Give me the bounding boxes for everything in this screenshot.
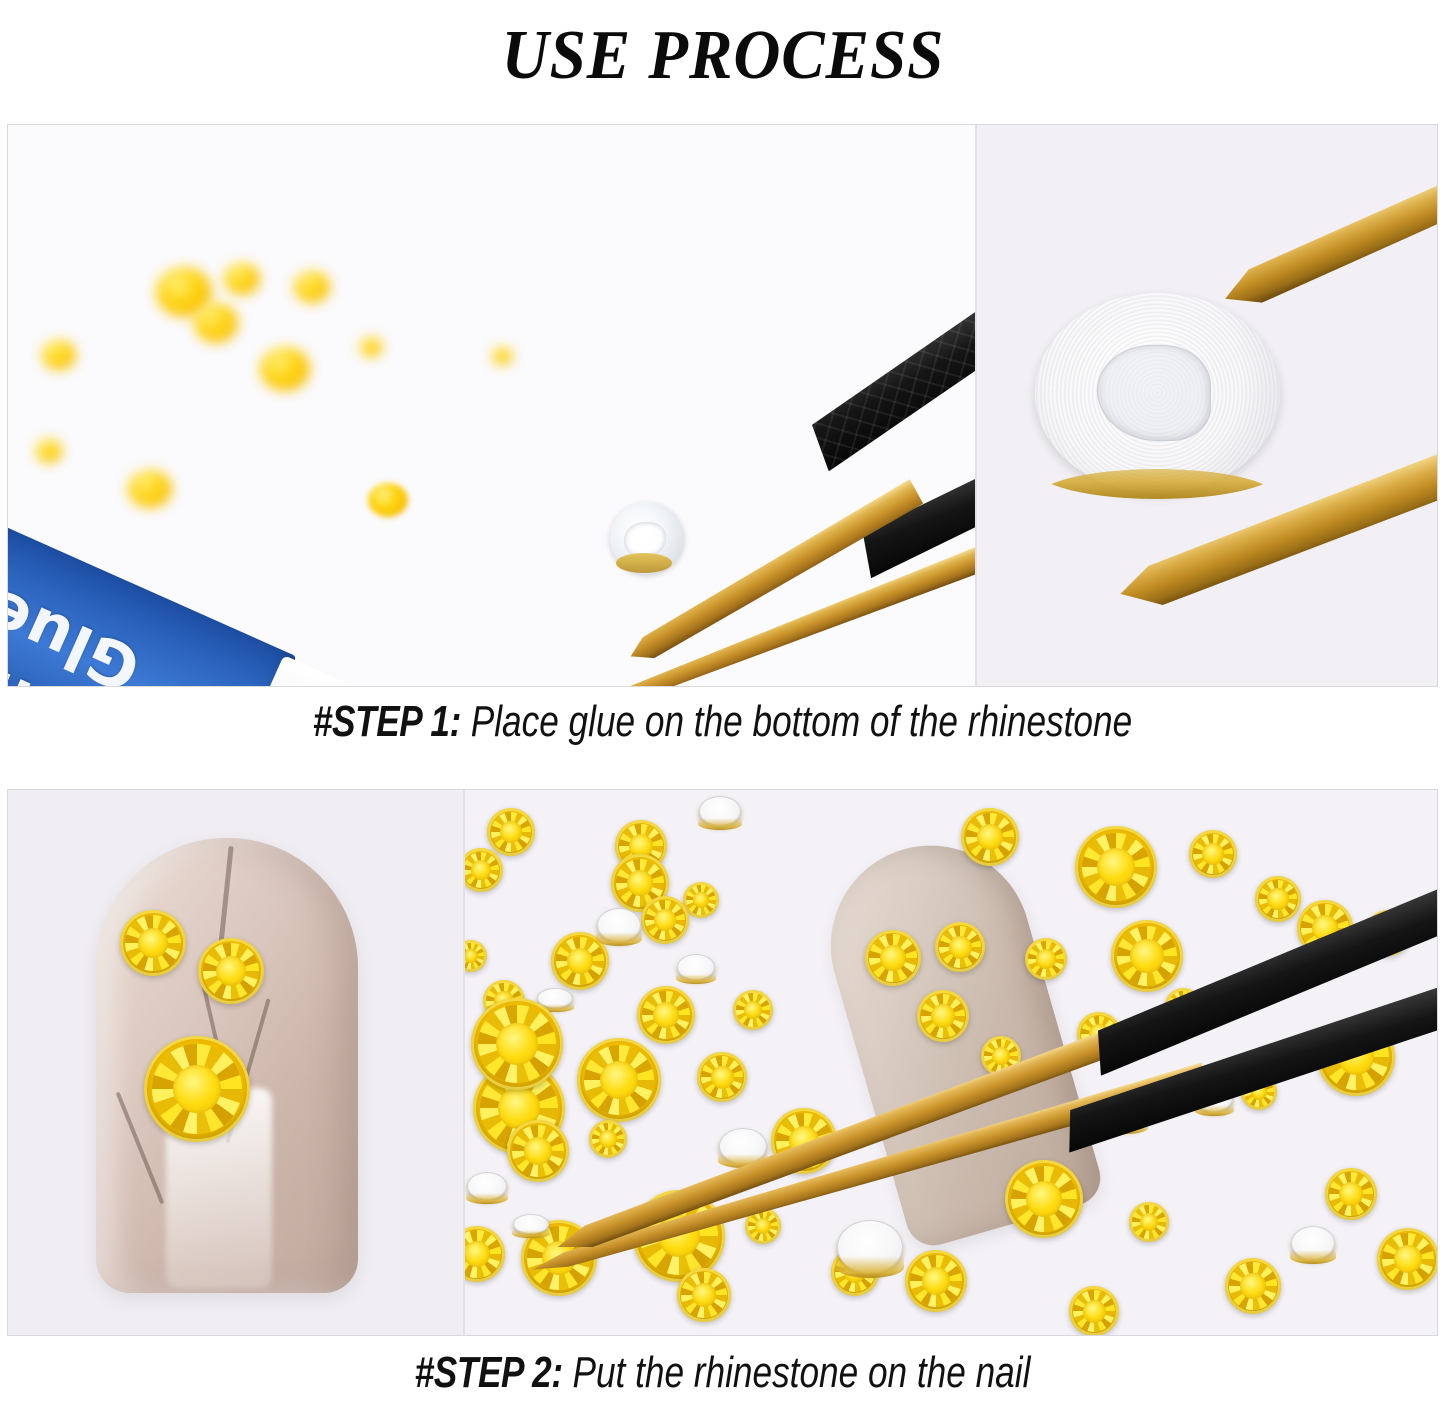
blurred-rhinestone <box>368 483 408 517</box>
blurred-rhinestone <box>194 303 238 343</box>
panel-4-alt-text: Gold tweezers placing a yellow rhineston… <box>465 790 466 791</box>
scattered-rhinestone <box>1255 876 1301 922</box>
nail-rhinestone-small-right <box>198 938 264 1004</box>
scattered-rhinestone-flat-back <box>677 954 715 980</box>
rhinestone-on-nail <box>865 930 921 986</box>
blurred-rhinestone <box>128 470 172 508</box>
panel-2-alt-text: Macro close-up of a rhinestone flat back… <box>977 125 978 126</box>
scattered-rhinestone <box>683 882 719 918</box>
rhinestone-backside-macro-photo: Macro close-up of a rhinestone flat back… <box>975 125 1437 686</box>
macro-tweezer-upper-arm <box>1214 149 1437 315</box>
scattered-rhinestone <box>1325 1168 1377 1220</box>
scattered-rhinestone <box>905 1250 967 1312</box>
scattered-rhinestone-flat-back <box>597 908 641 942</box>
tweezer-upper-grip <box>793 280 975 472</box>
page-title: USE PROCESS <box>501 16 944 96</box>
blurred-rhinestone <box>360 337 382 357</box>
rhinestone-glue-bottle: Glue Rhin <box>8 495 574 686</box>
scattered-rhinestone <box>1111 920 1183 992</box>
panel-1-alt-text: Hand holding blue Rhinestone Glue bottle… <box>8 125 9 126</box>
step-1-image-row: Glue Rhin Hand holding blue Rhinestone G… <box>7 124 1438 687</box>
scattered-rhinestone <box>637 986 695 1044</box>
scattered-rhinestone <box>1189 830 1237 878</box>
scattered-rhinestone <box>1069 1286 1119 1335</box>
scattered-rhinestone <box>463 1226 505 1282</box>
step-2-caption: #STEP 2: Put the rhinestone on the nail <box>145 1348 1301 1398</box>
scattered-rhinestone-flat-back <box>467 1172 507 1200</box>
applying-rhinestone-photo: Gold tweezers placing a yellow rhineston… <box>463 790 1437 1335</box>
glue-application-photo: Glue Rhin Hand holding blue Rhinestone G… <box>8 125 975 686</box>
scattered-rhinestone <box>1025 938 1067 980</box>
scattered-rhinestone <box>487 808 535 856</box>
blurred-rhinestone <box>492 347 512 365</box>
glue-bottle-label: Glue Rhin <box>8 522 296 686</box>
page-header: USE PROCESS <box>0 0 1445 112</box>
blurred-rhinestone <box>42 340 76 370</box>
blurred-rhinestone <box>260 347 310 391</box>
scattered-rhinestone <box>1225 1258 1281 1314</box>
blurred-rhinestone <box>36 439 62 463</box>
scattered-rhinestone <box>1377 1228 1437 1290</box>
rhinestone-on-nail <box>935 922 985 972</box>
scattered-rhinestone <box>507 1120 569 1182</box>
scattered-rhinestone-flat-back <box>719 1128 767 1164</box>
step-2-image-row: Nude coffin nail decorated with three ye… <box>7 789 1438 1336</box>
scattered-rhinestone-flat-back <box>837 1220 903 1274</box>
rhinestone-gold-edge <box>616 553 672 573</box>
step-2-label: #STEP 2: <box>415 1348 563 1397</box>
scattered-rhinestone <box>733 990 773 1030</box>
rhinestone-in-tweezers <box>471 998 563 1090</box>
scattered-rhinestone <box>677 1268 731 1322</box>
nail-rhinestone-large <box>144 1036 250 1142</box>
scattered-rhinestone <box>463 940 487 972</box>
step-2-text: Put the rhinestone on the nail <box>563 1348 1031 1397</box>
scattered-rhinestone <box>697 1052 747 1102</box>
scattered-rhinestone <box>1129 1202 1169 1242</box>
rhinestone-flat-back <box>1035 293 1280 493</box>
nail-rhinestone-small-left <box>120 910 186 976</box>
scattered-rhinestone-flat-back <box>513 1214 549 1234</box>
step-1-text: Place glue on the bottom of the rhinesto… <box>461 697 1132 746</box>
scattered-rhinestone-flat-back <box>1291 1226 1335 1260</box>
step-1-label: #STEP 1: <box>313 697 461 746</box>
scattered-rhinestone <box>1075 826 1157 908</box>
step-1-caption: #STEP 1: Place glue on the bottom of the… <box>145 697 1301 747</box>
blurred-rhinestone <box>294 271 330 303</box>
scattered-rhinestone <box>917 990 969 1042</box>
scattered-rhinestone <box>577 1038 661 1122</box>
scattered-rhinestone <box>463 848 503 892</box>
finished-nail-photo: Nude coffin nail decorated with three ye… <box>8 790 463 1335</box>
blurred-rhinestone <box>224 263 260 295</box>
panel-3-alt-text: Nude coffin nail decorated with three ye… <box>8 790 9 791</box>
decorated-nail <box>96 838 358 1293</box>
scattered-rhinestone <box>961 808 1019 866</box>
scattered-rhinestone-flat-back <box>699 796 741 826</box>
scattered-rhinestone <box>641 896 689 944</box>
scattered-rhinestone <box>1005 1160 1083 1238</box>
scattered-rhinestone <box>589 1120 627 1158</box>
